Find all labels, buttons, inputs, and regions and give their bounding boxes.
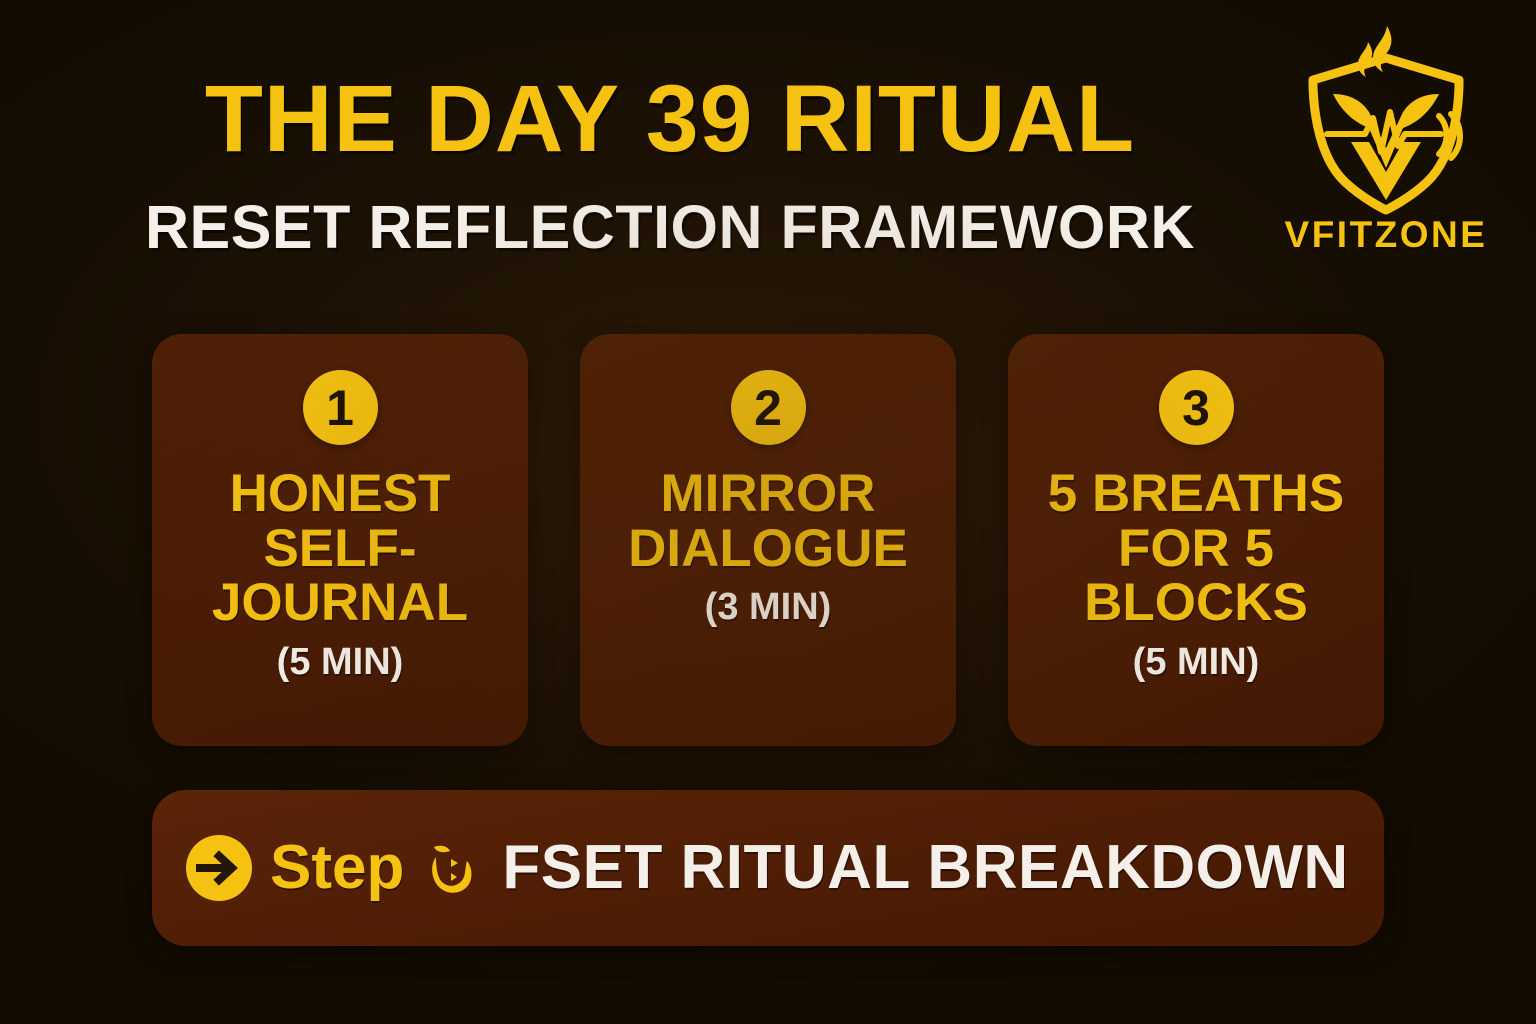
page-subtitle: RESET REFLECTION FRAMEWORK — [100, 197, 1240, 258]
step-card-3[interactable]: 3 5 BREATHS FOR 5 BLOCKS (5 MIN) — [1008, 334, 1384, 746]
step-duration: (5 MIN) — [1133, 641, 1260, 684]
step-duration: (3 MIN) — [705, 586, 832, 629]
step-title: MIRROR DIALOGUE — [598, 467, 938, 576]
logo-wordmark: VFITZONE — [1285, 214, 1488, 256]
step-card-2[interactable]: 2 MIRROR DIALOGUE (3 MIN) — [580, 334, 956, 746]
title-block: THE DAY 39 RITUAL RESET REFLECTION FRAME… — [100, 72, 1240, 258]
cta-banner[interactable]: Step FSET RITUAL BREAKDOWN — [152, 790, 1384, 946]
header: THE DAY 39 RITUAL RESET REFLECTION FRAME… — [0, 0, 1536, 300]
step-cards: 1 HONEST SELF-JOURNAL (5 MIN) 2 MIRROR D… — [152, 334, 1384, 746]
banner-headline: FSET RITUAL BREAKDOWN — [502, 837, 1348, 899]
clipped-digit-glyph-icon — [420, 835, 480, 901]
brand-logo: VFITZONE — [1278, 22, 1494, 272]
page-title: THE DAY 39 RITUAL — [100, 72, 1240, 167]
banner-step-label: Step — [270, 837, 404, 899]
step-badge: 2 — [731, 370, 806, 445]
step-title: 5 BREATHS FOR 5 BLOCKS — [1026, 467, 1366, 631]
step-badge: 1 — [303, 370, 378, 445]
arrow-right-circle-icon — [186, 835, 252, 901]
poster-canvas: THE DAY 39 RITUAL RESET REFLECTION FRAME… — [0, 0, 1536, 1024]
step-card-1[interactable]: 1 HONEST SELF-JOURNAL (5 MIN) — [152, 334, 528, 746]
step-duration: (5 MIN) — [277, 641, 404, 684]
step-title: HONEST SELF-JOURNAL — [170, 467, 510, 631]
shield-flame-vfit-icon — [1291, 22, 1481, 218]
step-badge: 3 — [1159, 370, 1234, 445]
